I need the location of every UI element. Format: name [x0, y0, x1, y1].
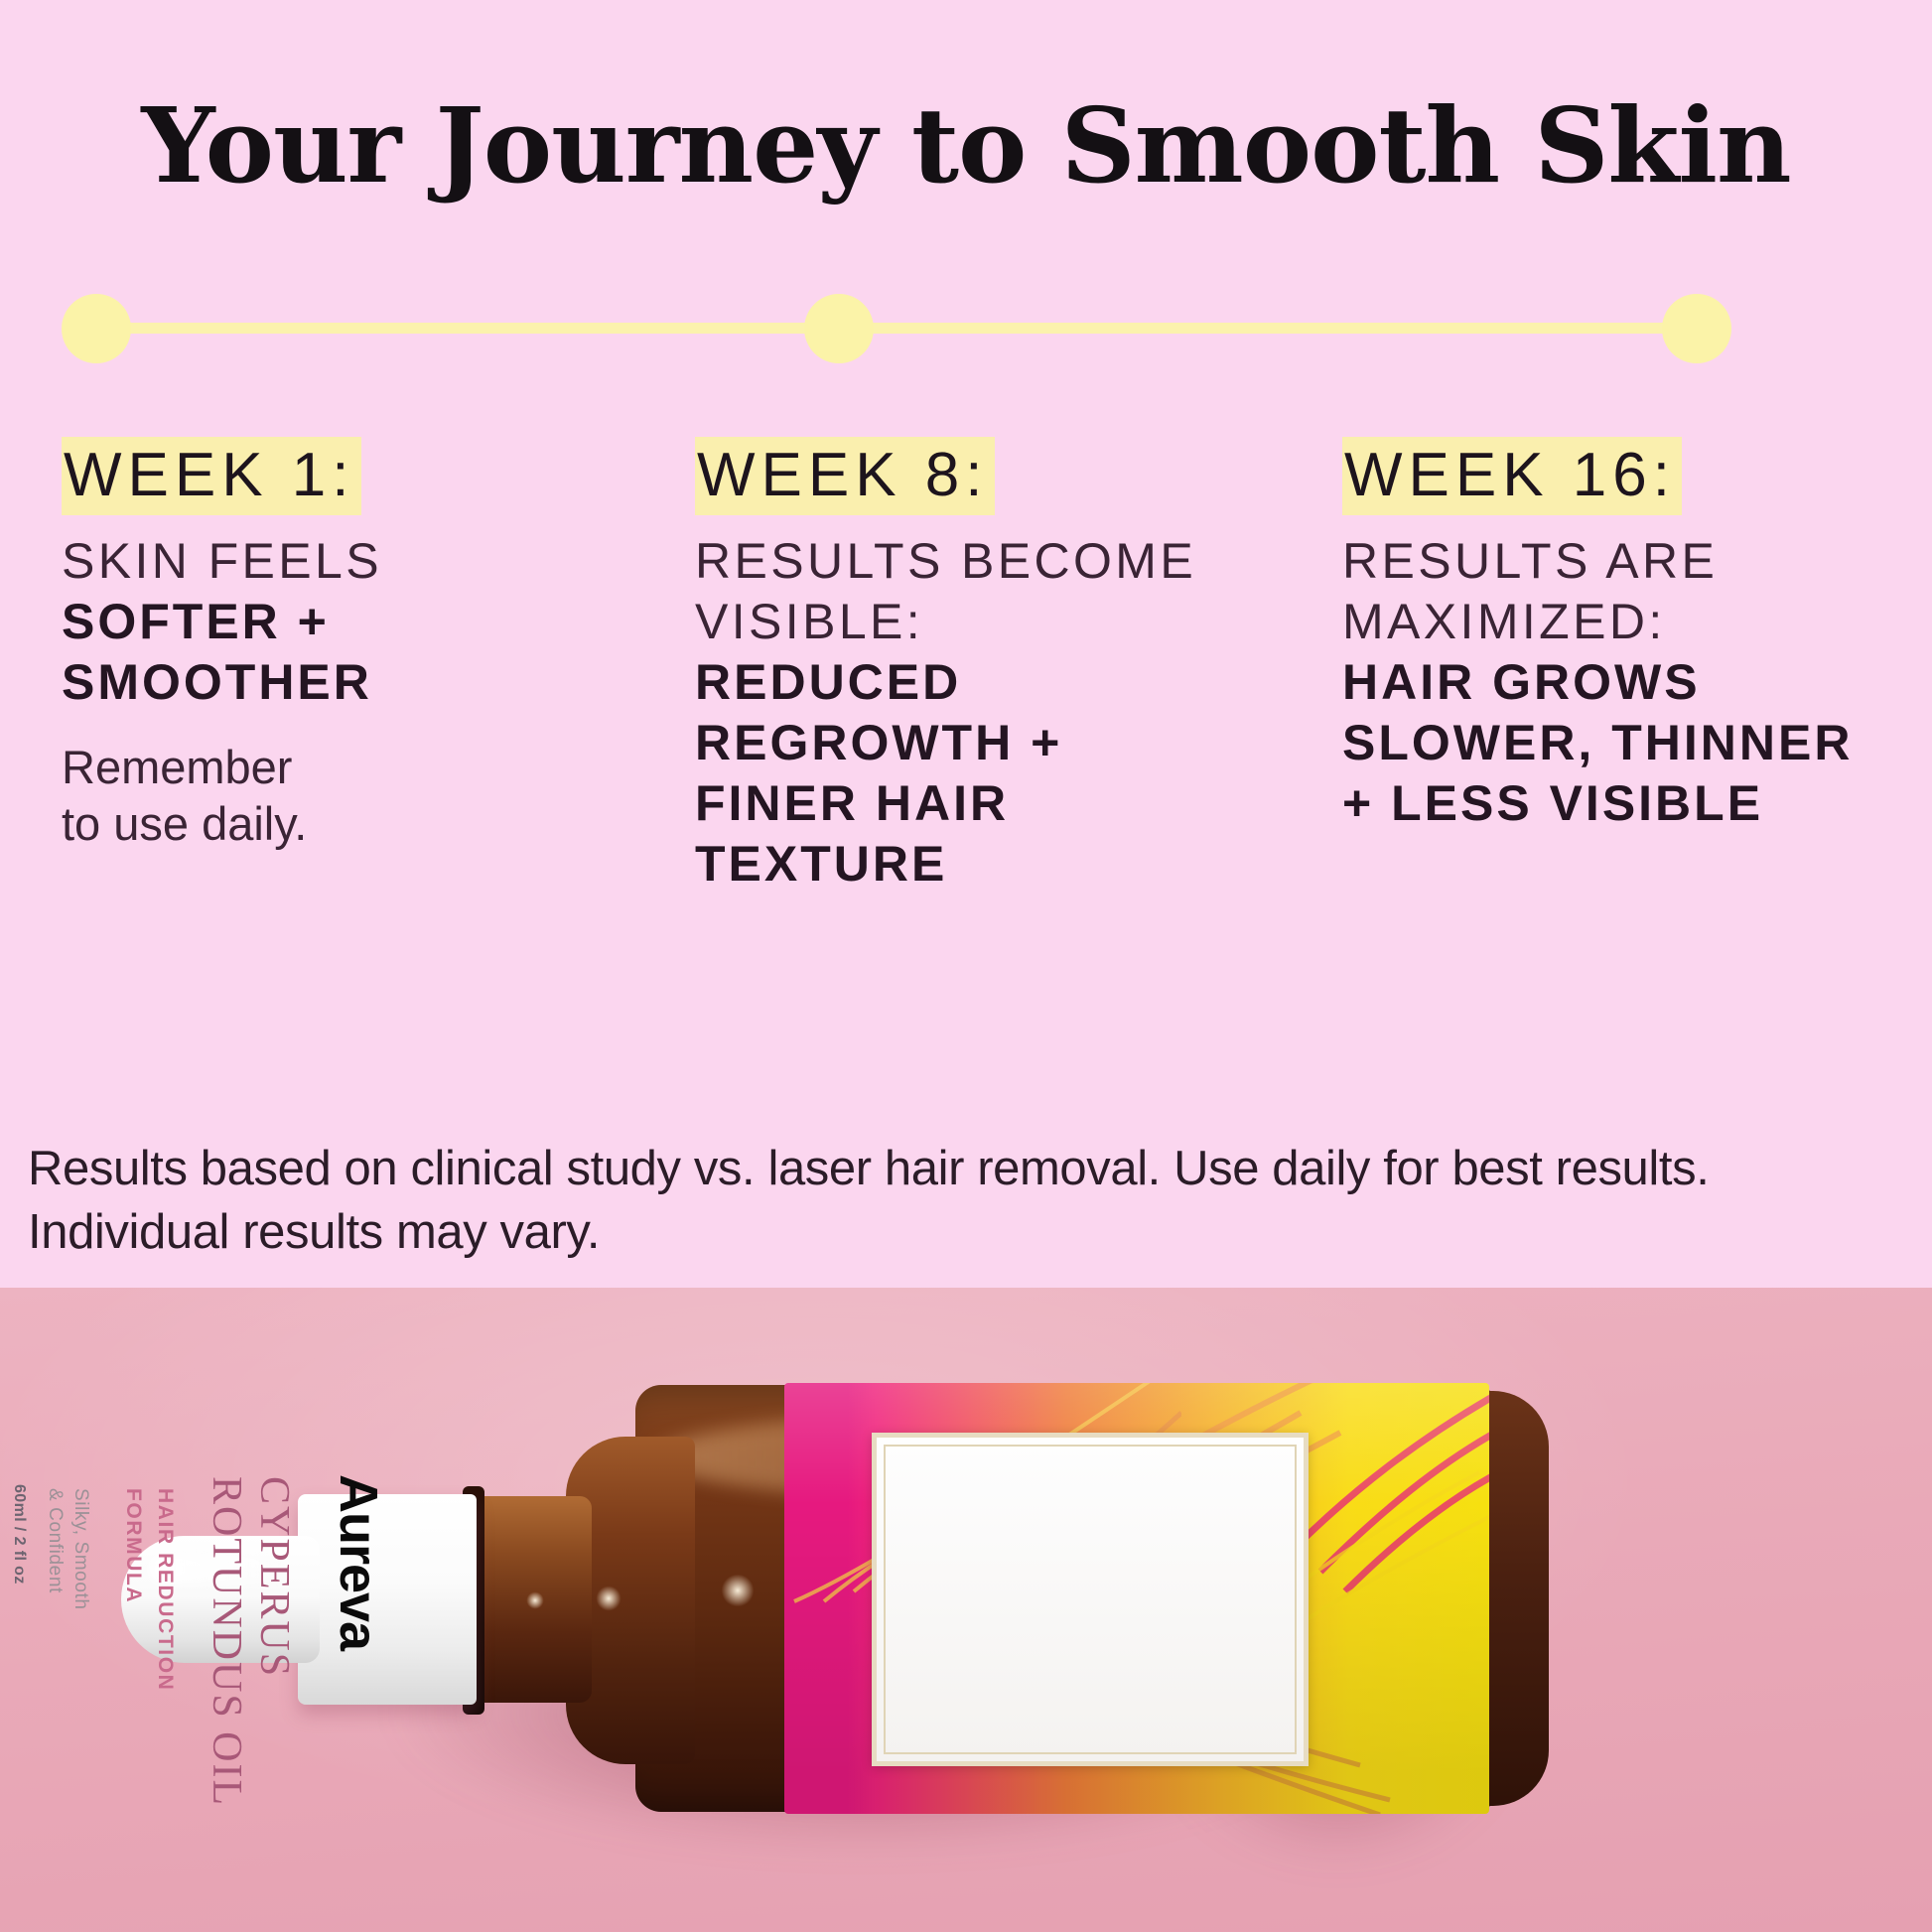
- milestone-8-line-5: FINER HAIR: [695, 773, 1191, 834]
- milestone-16-line-4: SLOWER, THINNER: [1342, 713, 1898, 773]
- milestone-16-line-5: + LESS VISIBLE: [1342, 773, 1898, 834]
- product-name-line-2: ROTUNDUS OIL: [203, 1476, 250, 1807]
- milestone-week-8: WEEK 8: RESULTS BECOME VISIBLE: REDUCED …: [695, 437, 1191, 895]
- week-badge-8: WEEK 8:: [695, 437, 995, 515]
- glass-highlight-2: [721, 1574, 755, 1607]
- milestone-week-16: WEEK 16: RESULTS ARE MAXIMIZED: HAIR GRO…: [1342, 437, 1898, 834]
- timeline-line: [97, 323, 1698, 334]
- milestone-8-line-1: RESULTS BECOME: [695, 531, 1191, 592]
- paper-label-border: [884, 1445, 1297, 1754]
- page-title: Your Journey to Smooth Skin: [0, 91, 1932, 200]
- milestone-1-lines: SKIN FEELS SOFTER + SMOOTHER: [62, 531, 528, 713]
- milestone-1-note-line-1: Remember: [62, 739, 528, 795]
- disclaimer-text: Results based on clinical study vs. lase…: [28, 1138, 1904, 1264]
- tagline-line-1: Silky, Smooth: [69, 1488, 91, 1610]
- glass-highlight-3: [526, 1591, 544, 1609]
- milestone-week-1: WEEK 1: SKIN FEELS SOFTER + SMOOTHER Rem…: [62, 437, 528, 853]
- progress-timeline: [0, 294, 1932, 363]
- milestone-16-line-2: MAXIMIZED:: [1342, 592, 1898, 652]
- info-panel: Your Journey to Smooth Skin WEEK 1: SKIN…: [0, 0, 1932, 1288]
- formula-line-1: HAIR REDUCTION: [153, 1488, 177, 1691]
- timeline-dot-week-16: [1662, 294, 1731, 363]
- milestone-1-note-line-2: to use daily.: [62, 795, 528, 852]
- week-badge-1: WEEK 1:: [62, 437, 361, 515]
- serum-bottle: Aureva CYPERUS ROTUNDUS OIL HAIR REDUCTI…: [0, 1288, 1932, 1932]
- volume-text: 60ml / 2 fl oz: [10, 1484, 28, 1585]
- milestone-8-line-6: TEXTURE: [695, 834, 1191, 895]
- glass-highlight-1: [596, 1586, 621, 1611]
- milestone-16-line-1: RESULTS ARE: [1342, 531, 1898, 592]
- milestone-1-note: Remember to use daily.: [62, 739, 528, 853]
- brand-name: Aureva: [328, 1474, 389, 1650]
- product-paper-label: [872, 1433, 1309, 1766]
- timeline-dot-week-1: [62, 294, 131, 363]
- product-name-line-1: CYPERUS: [250, 1476, 298, 1678]
- formula-line-2: FORMULA: [121, 1488, 145, 1603]
- milestone-16-line-3: HAIR GROWS: [1342, 652, 1898, 713]
- timeline-dot-week-8: [804, 294, 874, 363]
- milestone-16-lines: RESULTS ARE MAXIMIZED: HAIR GROWS SLOWER…: [1342, 531, 1898, 834]
- milestone-1-line-3: SMOOTHER: [62, 652, 528, 713]
- milestone-8-line-4: REGROWTH +: [695, 713, 1191, 773]
- week-badge-16: WEEK 16:: [1342, 437, 1682, 515]
- milestone-8-line-2: VISIBLE:: [695, 592, 1191, 652]
- milestone-1-line-1: SKIN FEELS: [62, 531, 528, 592]
- milestone-1-line-2: SOFTER +: [62, 592, 528, 652]
- milestone-8-lines: RESULTS BECOME VISIBLE: REDUCED REGROWTH…: [695, 531, 1191, 895]
- tagline-line-2: & Confident: [44, 1488, 66, 1593]
- milestone-8-line-3: REDUCED: [695, 652, 1191, 713]
- product-photo: Aureva CYPERUS ROTUNDUS OIL HAIR REDUCTI…: [0, 1288, 1932, 1932]
